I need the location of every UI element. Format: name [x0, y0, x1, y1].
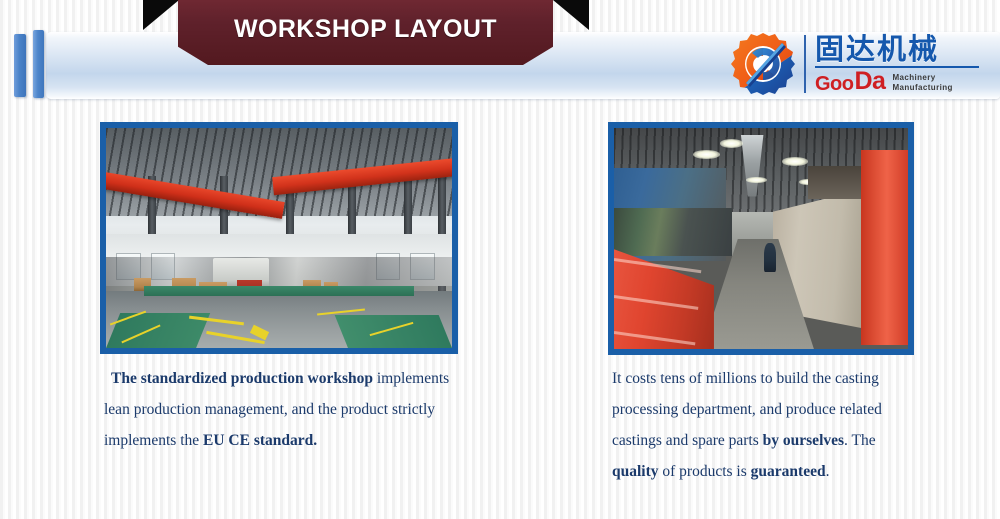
logo-wordmark: 固达机械 Goo Da Machinery Manufacturing: [815, 34, 979, 95]
logo-tagline-line1: Machinery: [892, 73, 935, 82]
logo-tagline-line2: Manufacturing: [892, 83, 952, 92]
logo-brand-goo: Goo: [815, 74, 854, 94]
casting-caption-bold-3: guaranteed: [751, 463, 826, 480]
workshop-caption-bold-2: EU CE standard.: [203, 432, 317, 449]
casting-caption-text-4: .: [826, 463, 830, 480]
page-title: WORKSHOP LAYOUT: [234, 15, 497, 51]
workshop-caption-bold-1: The standardized production workshop: [111, 370, 373, 387]
company-logo: 固达机械 Goo Da Machinery Manufacturing: [726, 28, 982, 100]
casting-department-photo: [608, 122, 914, 355]
logo-rule: [815, 66, 979, 68]
gear-icon: [726, 29, 800, 99]
logo-chinese-name: 固达机械: [815, 34, 979, 65]
casting-caption: It costs tens of millions to build the c…: [612, 363, 912, 487]
casting-caption-bold-2: quality: [612, 463, 659, 480]
banner-tail-right: [553, 0, 589, 30]
banner-tail-left: [143, 0, 179, 30]
logo-divider: [804, 35, 806, 93]
workshop-floor-photo-image: [106, 128, 452, 348]
casting-department-photo-image: [614, 128, 908, 349]
header-accent-bar-1: [14, 34, 26, 97]
page-header: WORKSHOP LAYOUT: [0, 0, 1000, 104]
logo-latin-block: Goo Da Machinery Manufacturing: [815, 69, 979, 94]
workshop-floor-photo: [100, 122, 458, 354]
workshop-caption: The standardized production workshop imp…: [104, 363, 456, 456]
casting-caption-text-2: . The: [844, 432, 876, 449]
casting-caption-bold-1: by ourselves: [763, 432, 844, 449]
logo-brand-da: Da: [855, 69, 886, 94]
header-accent-bar-2: [33, 30, 44, 98]
section-title-banner: WORKSHOP LAYOUT: [178, 0, 553, 65]
casting-caption-text-3: of products is: [659, 463, 751, 480]
logo-tagline: Machinery Manufacturing: [892, 73, 952, 93]
